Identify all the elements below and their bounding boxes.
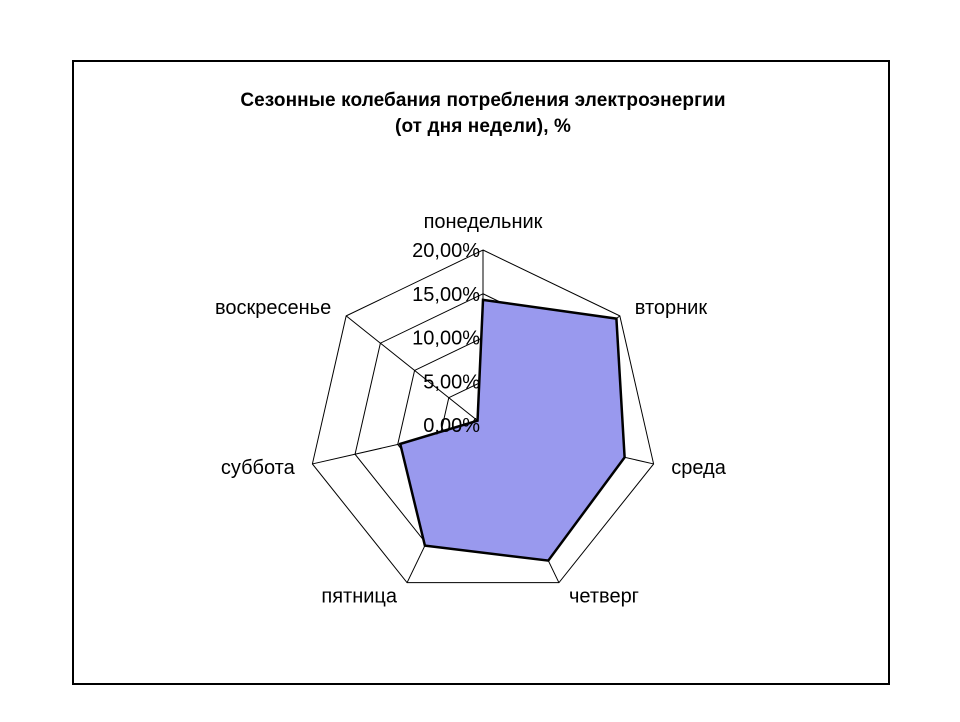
radar-category-label-4: пятница bbox=[321, 585, 397, 607]
chart-frame: Сезонные колебания потребления электроэн… bbox=[72, 60, 890, 685]
radar-category-label-0: понедельник bbox=[424, 211, 543, 233]
radar-category-label-2: среда bbox=[671, 457, 726, 479]
radar-tick-label-10: 10,00% bbox=[412, 328, 480, 350]
radar-category-label-5: суббота bbox=[221, 457, 296, 479]
radar-chart: 0,00%5,00%10,00%15,00%20,00% понедельник… bbox=[2, 2, 960, 722]
radar-category-label-6: воскресенье bbox=[215, 297, 331, 319]
radar-category-label-3: четверг bbox=[569, 585, 639, 607]
radar-tick-label-0: 0,00% bbox=[423, 415, 480, 437]
radar-tick-label-5: 5,00% bbox=[423, 371, 480, 393]
radar-category-label-1: вторник bbox=[635, 297, 708, 319]
radar-tick-label-15: 15,00% bbox=[412, 284, 480, 306]
chart-page: Сезонные колебания потребления электроэн… bbox=[0, 0, 960, 720]
radar-tick-label-20: 20,00% bbox=[412, 240, 480, 262]
